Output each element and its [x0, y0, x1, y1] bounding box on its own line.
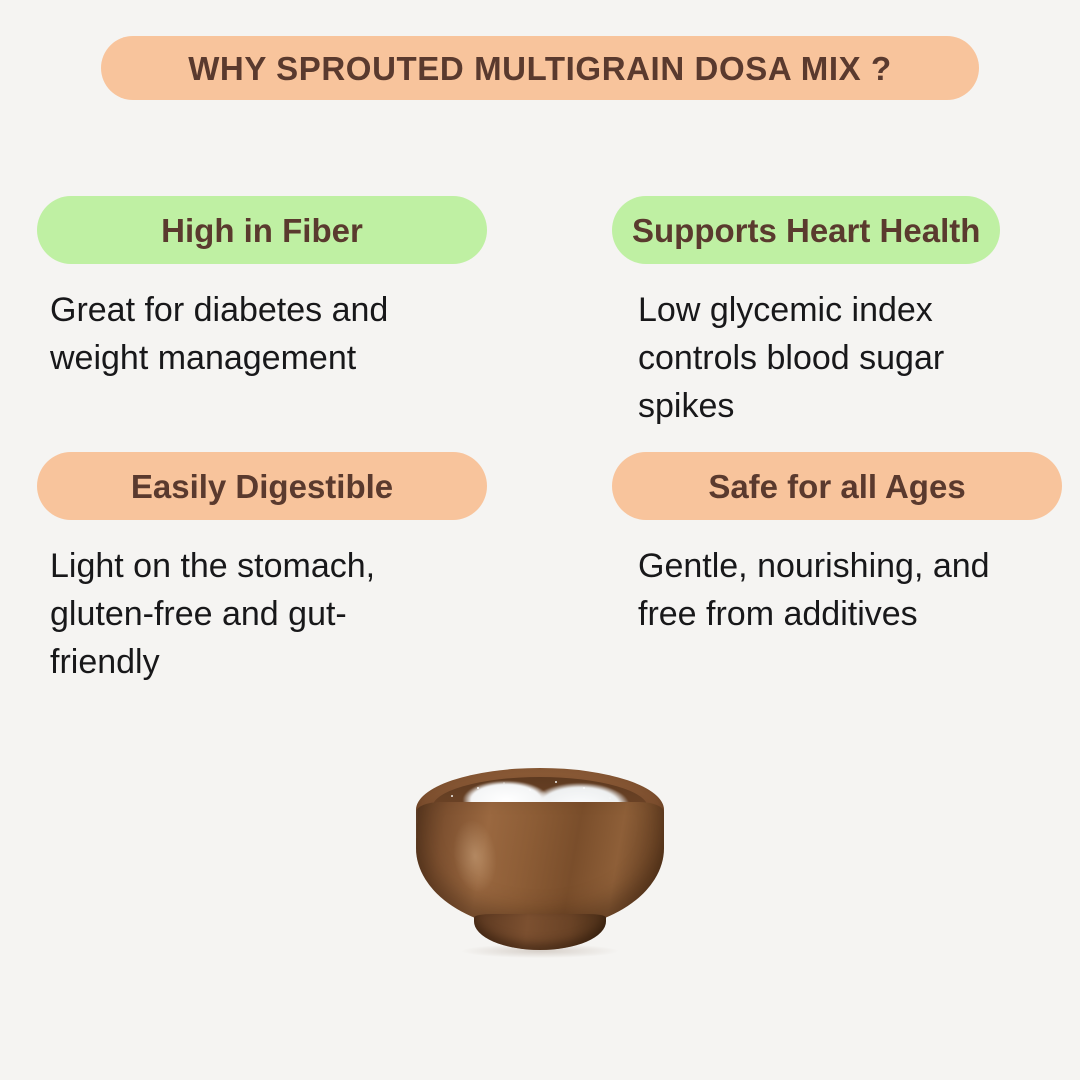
feature-chip-safe-for-all-ages: Safe for all Ages — [612, 452, 1062, 520]
page-title: WHY SPROUTED MULTIGRAIN DOSA MIX ? — [188, 52, 892, 85]
feature-card-safe-for-all-ages: Safe for all Ages Gentle, nourishing, an… — [612, 452, 1062, 638]
wooden-bowl-of-flour-icon — [400, 768, 680, 968]
feature-description: Gentle, nourishing, and free from additi… — [612, 542, 1038, 638]
product-image-area — [0, 768, 1080, 998]
feature-description: Light on the stomach, gluten-free and gu… — [37, 542, 450, 686]
bowl-shadow — [462, 944, 618, 958]
feature-row-2: Easily Digestible Light on the stomach, … — [37, 452, 1057, 686]
feature-label: Easily Digestible — [131, 470, 393, 503]
feature-chip-supports-heart-health: Supports Heart Health — [612, 196, 1000, 264]
feature-grid: High in Fiber Great for diabetes and wei… — [37, 196, 1057, 686]
feature-card-easily-digestible: Easily Digestible Light on the stomach, … — [37, 452, 487, 686]
feature-card-supports-heart-health: Supports Heart Health Low glycemic index… — [612, 196, 1057, 430]
feature-chip-high-in-fiber: High in Fiber — [37, 196, 487, 264]
title-pill: WHY SPROUTED MULTIGRAIN DOSA MIX ? — [101, 36, 979, 100]
bowl-wood-grain — [416, 802, 664, 930]
feature-label: High in Fiber — [161, 214, 363, 247]
feature-chip-easily-digestible: Easily Digestible — [37, 452, 487, 520]
poster-canvas: WHY SPROUTED MULTIGRAIN DOSA MIX ? High … — [0, 0, 1080, 1080]
feature-row-1: High in Fiber Great for diabetes and wei… — [37, 196, 1057, 430]
feature-description: Great for diabetes and weight management — [37, 286, 450, 382]
header-banner: WHY SPROUTED MULTIGRAIN DOSA MIX ? — [0, 36, 1080, 100]
feature-label: Supports Heart Health — [632, 214, 980, 247]
feature-description: Low glycemic index controls blood sugar … — [612, 286, 1038, 430]
feature-label: Safe for all Ages — [708, 470, 965, 503]
feature-card-high-in-fiber: High in Fiber Great for diabetes and wei… — [37, 196, 487, 382]
